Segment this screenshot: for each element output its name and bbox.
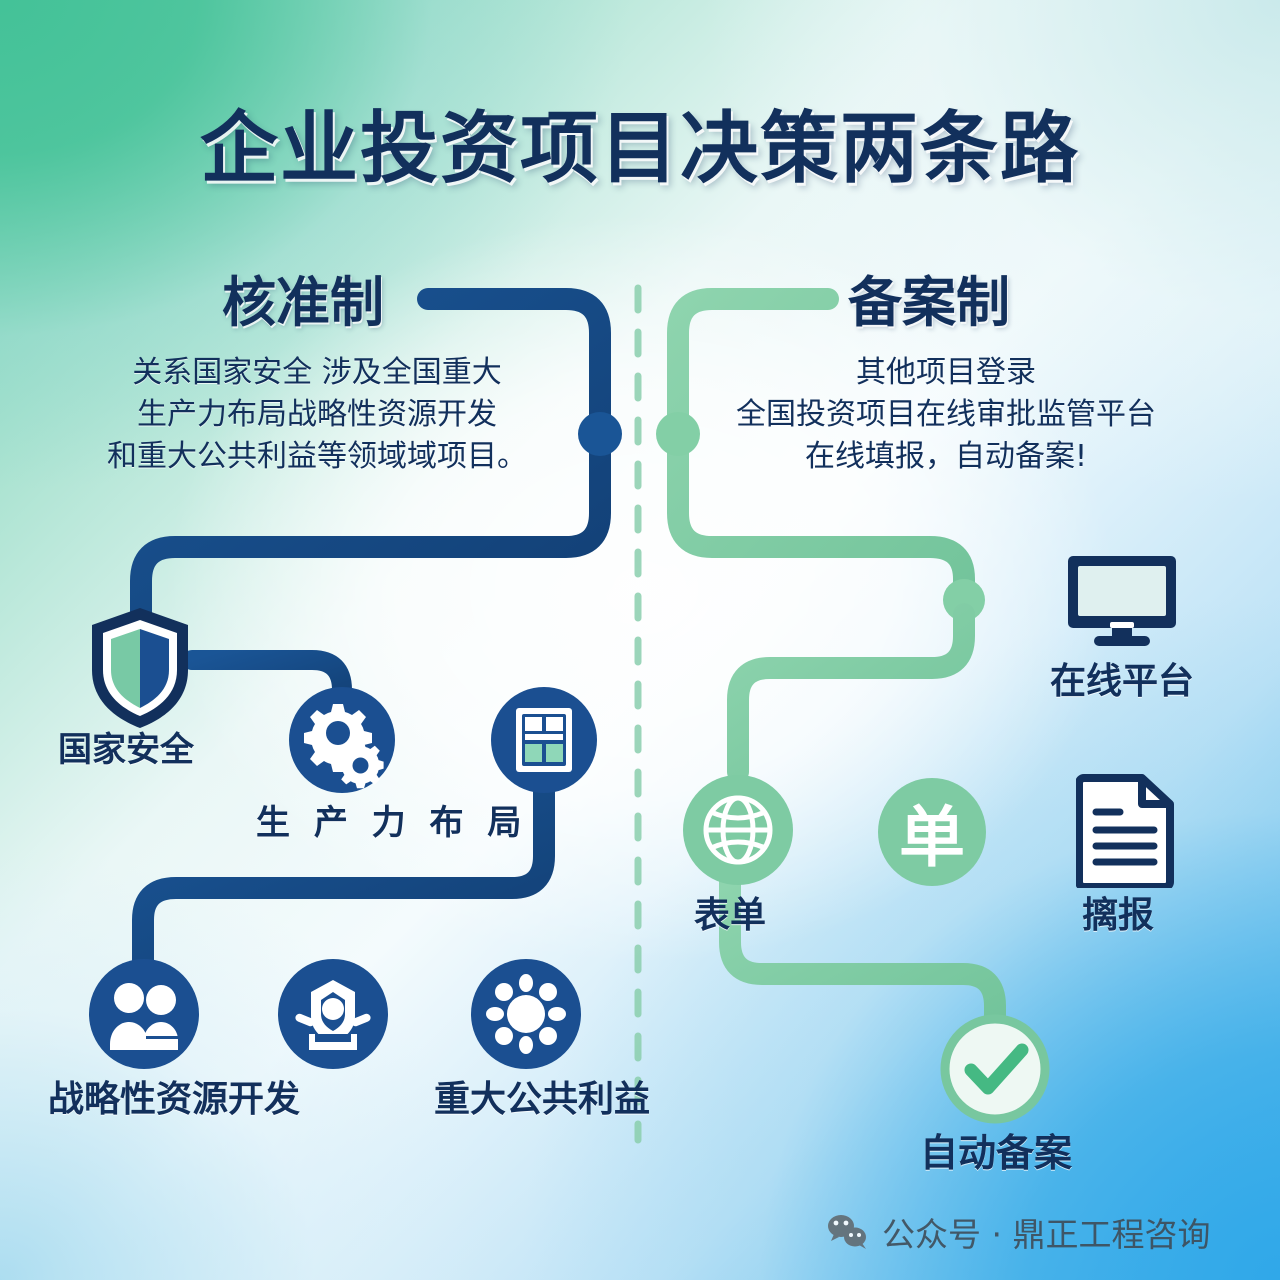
node-online-platform[interactable] bbox=[1064, 552, 1180, 655]
globe-icon bbox=[682, 774, 794, 886]
node-national-security[interactable] bbox=[84, 604, 196, 737]
grid-window-icon bbox=[490, 686, 598, 794]
node-form-dan[interactable]: 单 bbox=[876, 776, 988, 893]
node-strategic-resources[interactable] bbox=[88, 958, 200, 1075]
page-title: 企业投资项目决策两条路 bbox=[0, 86, 1280, 198]
label-strategic-resources: 战略性资源开发 bbox=[48, 1070, 300, 1122]
footer-watermark: 公众号 · 鼎正工程咨询 bbox=[826, 1208, 1210, 1256]
radial-dots-icon bbox=[470, 958, 582, 1070]
document-icon bbox=[1076, 772, 1176, 888]
gem-resource-icon bbox=[277, 958, 389, 1070]
infographic-canvas: 企业投资项目决策两条路 核准制 关系国家安全 涉及全国重大 生产力布局战略性资源… bbox=[0, 0, 1280, 1280]
left-branch-heading: 核准制 bbox=[222, 258, 384, 337]
footer-text: 公众号 · 鼎正工程咨询 bbox=[882, 1208, 1210, 1256]
wechat-icon bbox=[826, 1213, 870, 1251]
left-branch-description: 关系国家安全 涉及全国重大 生产力布局战略性资源开发 和重大公共利益等领域域项目… bbox=[62, 352, 572, 478]
label-form: 表单 bbox=[694, 886, 766, 938]
label-auto-filing: 自动备案 bbox=[920, 1122, 1072, 1177]
node-layout-grid[interactable] bbox=[490, 686, 598, 799]
node-productivity-gears[interactable] bbox=[288, 686, 396, 799]
node-report-document[interactable] bbox=[1076, 772, 1176, 893]
label-productivity-layout: 生 产 力 布 局 bbox=[256, 795, 527, 844]
monitor-icon bbox=[1064, 552, 1180, 650]
form-dan-glyph: 单 bbox=[876, 776, 988, 888]
label-public-interest: 重大公共利益 bbox=[434, 1070, 650, 1122]
label-national-security: 国家安全 bbox=[58, 722, 194, 771]
gears-icon bbox=[288, 686, 396, 794]
label-online-platform: 在线平台 bbox=[1050, 652, 1194, 704]
label-report: 摛报 bbox=[1082, 886, 1154, 938]
right-branch-description: 其他项目登录 全国投资项目在线审批监管平台 在线填报，自动备案! bbox=[672, 352, 1220, 478]
right-branch-heading: 备案制 bbox=[848, 258, 1010, 337]
node-resource-gem[interactable] bbox=[277, 958, 389, 1075]
node-public-interest[interactable] bbox=[470, 958, 582, 1075]
people-icon bbox=[88, 958, 200, 1070]
check-circle-icon bbox=[938, 1012, 1052, 1126]
node-auto-filing[interactable] bbox=[938, 1012, 1052, 1131]
shield-icon bbox=[84, 604, 196, 732]
node-form-globe[interactable] bbox=[682, 774, 794, 891]
